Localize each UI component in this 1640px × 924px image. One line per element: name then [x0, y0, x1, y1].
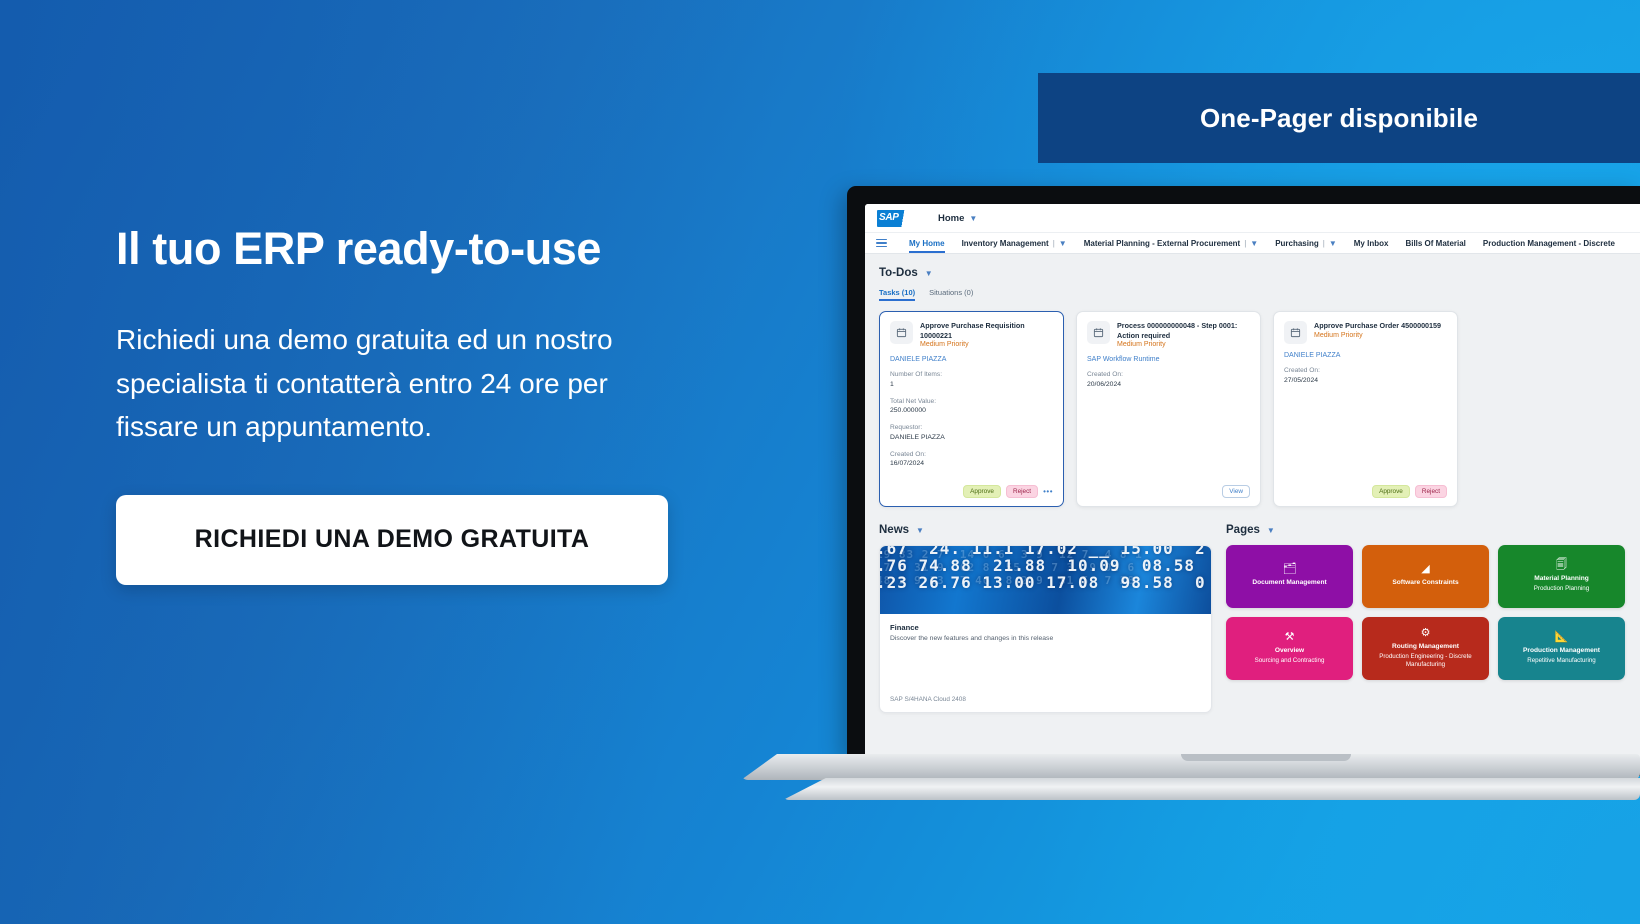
task-field: Total Net Value: 250.000000: [890, 397, 1053, 416]
tools-icon: ⚒: [1285, 632, 1295, 643]
chevron-down-icon: ▼: [1059, 239, 1067, 248]
nav-separator: |: [1323, 239, 1325, 248]
field-value: 16/07/2024: [890, 459, 1053, 469]
todos-title: To-Dos: [879, 267, 918, 279]
tab-tasks[interactable]: Tasks (10): [879, 288, 915, 301]
task-card[interactable]: Approve Purchase Requisition 10000221 Me…: [879, 311, 1064, 507]
task-priority: Medium Priority: [1314, 332, 1447, 339]
request-demo-label: RICHIEDI UNA DEMO GRATUITA: [195, 525, 590, 554]
chevron-down-icon: ▼: [1250, 239, 1258, 248]
tile-production-management[interactable]: 📐 Production Management Repetitive Manuf…: [1498, 617, 1625, 680]
news-image-digits-front: .67 24. 11.1 17.02 __ 15.00 2 .76 74.88 …: [880, 546, 1211, 614]
sap-shell-header: SAP Home ▼: [865, 204, 1640, 233]
reject-button[interactable]: Reject: [1415, 485, 1447, 498]
field-value: 250.000000: [890, 406, 1053, 416]
hero-copy-block: Il tuo ERP ready-to-use Richiedi una dem…: [116, 224, 716, 585]
field-value: DANIELE PIAZZA: [890, 433, 1053, 443]
nav-label: Bills Of Material: [1405, 239, 1465, 248]
sap-logo-icon: SAP: [877, 210, 912, 227]
tile-line1: Software Constraints: [1392, 579, 1458, 588]
news-subtitle: Discover the new features and changes in…: [890, 635, 1201, 642]
request-demo-button[interactable]: RICHIEDI UNA DEMO GRATUITA: [116, 495, 668, 585]
nav-label: Purchasing: [1275, 239, 1319, 248]
nav-item-my-inbox[interactable]: My Inbox: [1354, 239, 1389, 248]
field-value: 27/05/2024: [1284, 376, 1447, 386]
approve-button[interactable]: Approve: [963, 485, 1001, 498]
news-title: News: [879, 524, 909, 536]
tile-line2: Production Engineering - Discrete Manufa…: [1368, 653, 1483, 669]
task-title: Process 000000000048 - Step 0001: Action…: [1117, 321, 1250, 340]
tile-overview-sourcing[interactable]: ⚒ Overview Sourcing and Contracting: [1226, 617, 1353, 680]
chevron-down-icon: ▼: [1329, 239, 1337, 248]
task-link[interactable]: SAP Workflow Runtime: [1087, 356, 1250, 363]
field-value: 20/06/2024: [1087, 380, 1250, 390]
nav-item-material-planning[interactable]: Material Planning - External Procurement…: [1084, 239, 1258, 248]
news-section-header[interactable]: News ▼: [879, 524, 1212, 536]
news-card[interactable]: 19 83 2 7 14 0 6 3 9 12 7 4 8 1 7 5 31 9…: [879, 545, 1212, 713]
chevron-down-icon: ▼: [1267, 526, 1275, 535]
task-field: Requestor: DANIELE PIAZZA: [890, 423, 1053, 442]
sap-logo-text: SAP: [879, 212, 899, 223]
task-field: Created On: 20/06/2024: [1087, 370, 1250, 389]
nav-label: My Home: [909, 239, 945, 248]
tab-situations[interactable]: Situations (0): [929, 288, 973, 301]
hero-subcopy: Richiedi una demo gratuita ed un nostro …: [116, 318, 646, 448]
nav-label: Material Planning - External Procurement: [1084, 239, 1240, 248]
news-footer: SAP S/4HANA Cloud 2408: [890, 696, 1201, 703]
field-key: Number Of Items:: [890, 370, 1053, 380]
folder-lock-icon: 🗂: [1283, 564, 1297, 575]
task-field: Created On: 27/05/2024: [1284, 366, 1447, 385]
todos-section-header[interactable]: To-Dos ▼: [879, 267, 1640, 279]
task-priority: Medium Priority: [1117, 341, 1250, 348]
tile-line1: Material Planning: [1534, 575, 1589, 584]
task-actions: Approve Reject: [1284, 485, 1447, 498]
news-image: 19 83 2 7 14 0 6 3 9 12 7 4 8 1 7 5 31 9…: [880, 546, 1211, 614]
tile-line1: Routing Management: [1392, 643, 1459, 652]
tile-line1: Production Management: [1523, 647, 1600, 656]
field-key: Created On:: [1284, 366, 1447, 376]
news-body: Finance Discover the new features and ch…: [880, 614, 1211, 712]
tile-line1: Document Management: [1252, 579, 1326, 588]
pages-section: Pages ▼ 🗂 Document Management ◢: [1226, 524, 1640, 713]
pages-title: Pages: [1226, 524, 1260, 536]
laptop-notch: [1181, 754, 1351, 761]
calendar-box-icon: 🗐: [1556, 560, 1567, 571]
nav-separator: |: [1053, 239, 1055, 248]
task-card-header: Process 000000000048 - Step 0001: Action…: [1087, 321, 1250, 348]
laptop-mockup: SAP Home ▼ My Home Inventory Management …: [735, 186, 1640, 826]
field-key: Total Net Value:: [890, 397, 1053, 407]
task-field: Number Of Items: 1: [890, 370, 1053, 389]
field-value: 1: [890, 380, 1053, 390]
nav-label: My Inbox: [1354, 239, 1389, 248]
laptop-screen-bezel: SAP Home ▼ My Home Inventory Management …: [847, 186, 1640, 758]
task-link[interactable]: DANIELE PIAZZA: [890, 356, 1053, 363]
nav-item-production-management[interactable]: Production Management - Discrete: [1483, 239, 1615, 248]
tab-label: Tasks (10): [879, 288, 915, 297]
page-title: Il tuo ERP ready-to-use: [116, 224, 716, 274]
tile-document-management[interactable]: 🗂 Document Management: [1226, 545, 1353, 608]
task-priority: Medium Priority: [920, 341, 1053, 348]
approve-button[interactable]: Approve: [1372, 485, 1410, 498]
tile-line2: Repetitive Manufacturing: [1527, 657, 1595, 665]
gear-icon: ⚙: [1421, 628, 1431, 639]
news-section: News ▼ 19 83 2 7 14 0 6 3 9 12 7 4 8 1 7…: [879, 524, 1212, 713]
task-card[interactable]: Process 000000000048 - Step 0001: Action…: [1076, 311, 1261, 507]
nav-label: Production Management - Discrete: [1483, 239, 1615, 248]
task-card-header: Approve Purchase Order 4500000159 Medium…: [1284, 321, 1447, 344]
news-headline: Finance: [890, 623, 1201, 632]
more-actions-icon[interactable]: •••: [1043, 487, 1053, 496]
tile-line2: Production Planning: [1534, 585, 1589, 593]
field-key: Created On:: [1087, 370, 1250, 380]
task-link[interactable]: DANIELE PIAZZA: [1284, 352, 1447, 359]
reject-button[interactable]: Reject: [1006, 485, 1038, 498]
home-menu-label: Home: [938, 213, 964, 224]
view-button[interactable]: View: [1222, 485, 1250, 498]
tile-material-planning[interactable]: 🗐 Material Planning Production Planning: [1498, 545, 1625, 608]
lower-sections: News ▼ 19 83 2 7 14 0 6 3 9 12 7 4 8 1 7…: [879, 524, 1640, 713]
todos-tabs: Tasks (10) Situations (0): [879, 288, 1640, 301]
tile-line2: Sourcing and Contracting: [1255, 657, 1325, 665]
pages-section-header[interactable]: Pages ▼: [1226, 524, 1640, 536]
sap-nav-bar: My Home Inventory Management | ▼ Materia…: [865, 233, 1640, 254]
sap-fiori-screen: SAP Home ▼ My Home Inventory Management …: [865, 204, 1640, 758]
sap-content-canvas: To-Dos ▼ Tasks (10) Situations (0): [865, 254, 1640, 758]
chevron-down-icon: ▼: [969, 214, 977, 223]
nav-label: Inventory Management: [962, 239, 1049, 248]
chevron-down-icon: ▼: [925, 269, 933, 278]
nav-item-my-home[interactable]: My Home: [909, 239, 945, 248]
task-card-list: Approve Purchase Requisition 10000221 Me…: [879, 311, 1640, 507]
pages-tile-grid: 🗂 Document Management ◢ Software Constra…: [1226, 545, 1640, 680]
task-actions: View: [1087, 485, 1250, 498]
laptop-foot: [783, 778, 1640, 800]
menu-icon[interactable]: [876, 239, 887, 248]
nav-item-purchasing[interactable]: Purchasing | ▼: [1275, 239, 1337, 248]
chevron-down-icon: ▼: [916, 526, 924, 535]
field-key: Requestor:: [890, 423, 1053, 433]
task-field: Created On: 16/07/2024: [890, 450, 1053, 469]
task-actions: Approve Reject •••: [890, 485, 1053, 498]
nav-item-bills-of-material[interactable]: Bills Of Material: [1405, 239, 1465, 248]
nav-separator: |: [1244, 239, 1246, 248]
task-title: Approve Purchase Order 4500000159: [1314, 321, 1447, 331]
calendar-icon: [1284, 321, 1307, 344]
field-key: Created On:: [890, 450, 1053, 460]
nav-item-inventory-management[interactable]: Inventory Management | ▼: [962, 239, 1067, 248]
tile-line1: Overview: [1275, 647, 1304, 656]
tile-software-constraints[interactable]: ◢ Software Constraints: [1362, 545, 1489, 608]
calendar-icon: [1087, 321, 1110, 344]
ruler-icon: 📐: [1555, 632, 1569, 643]
home-menu[interactable]: Home ▼: [938, 213, 977, 224]
task-card[interactable]: Approve Purchase Order 4500000159 Medium…: [1273, 311, 1458, 507]
tab-label: Situations (0): [929, 288, 973, 297]
one-pager-ribbon[interactable]: One-Pager disponibile: [1038, 73, 1640, 163]
task-title: Approve Purchase Requisition 10000221: [920, 321, 1053, 340]
calendar-icon: [890, 321, 913, 344]
constraint-icon: ◢: [1421, 564, 1429, 575]
tile-routing-management[interactable]: ⚙ Routing Management Production Engineer…: [1362, 617, 1489, 680]
ribbon-label: One-Pager disponibile: [1200, 103, 1478, 134]
task-card-header: Approve Purchase Requisition 10000221 Me…: [890, 321, 1053, 348]
